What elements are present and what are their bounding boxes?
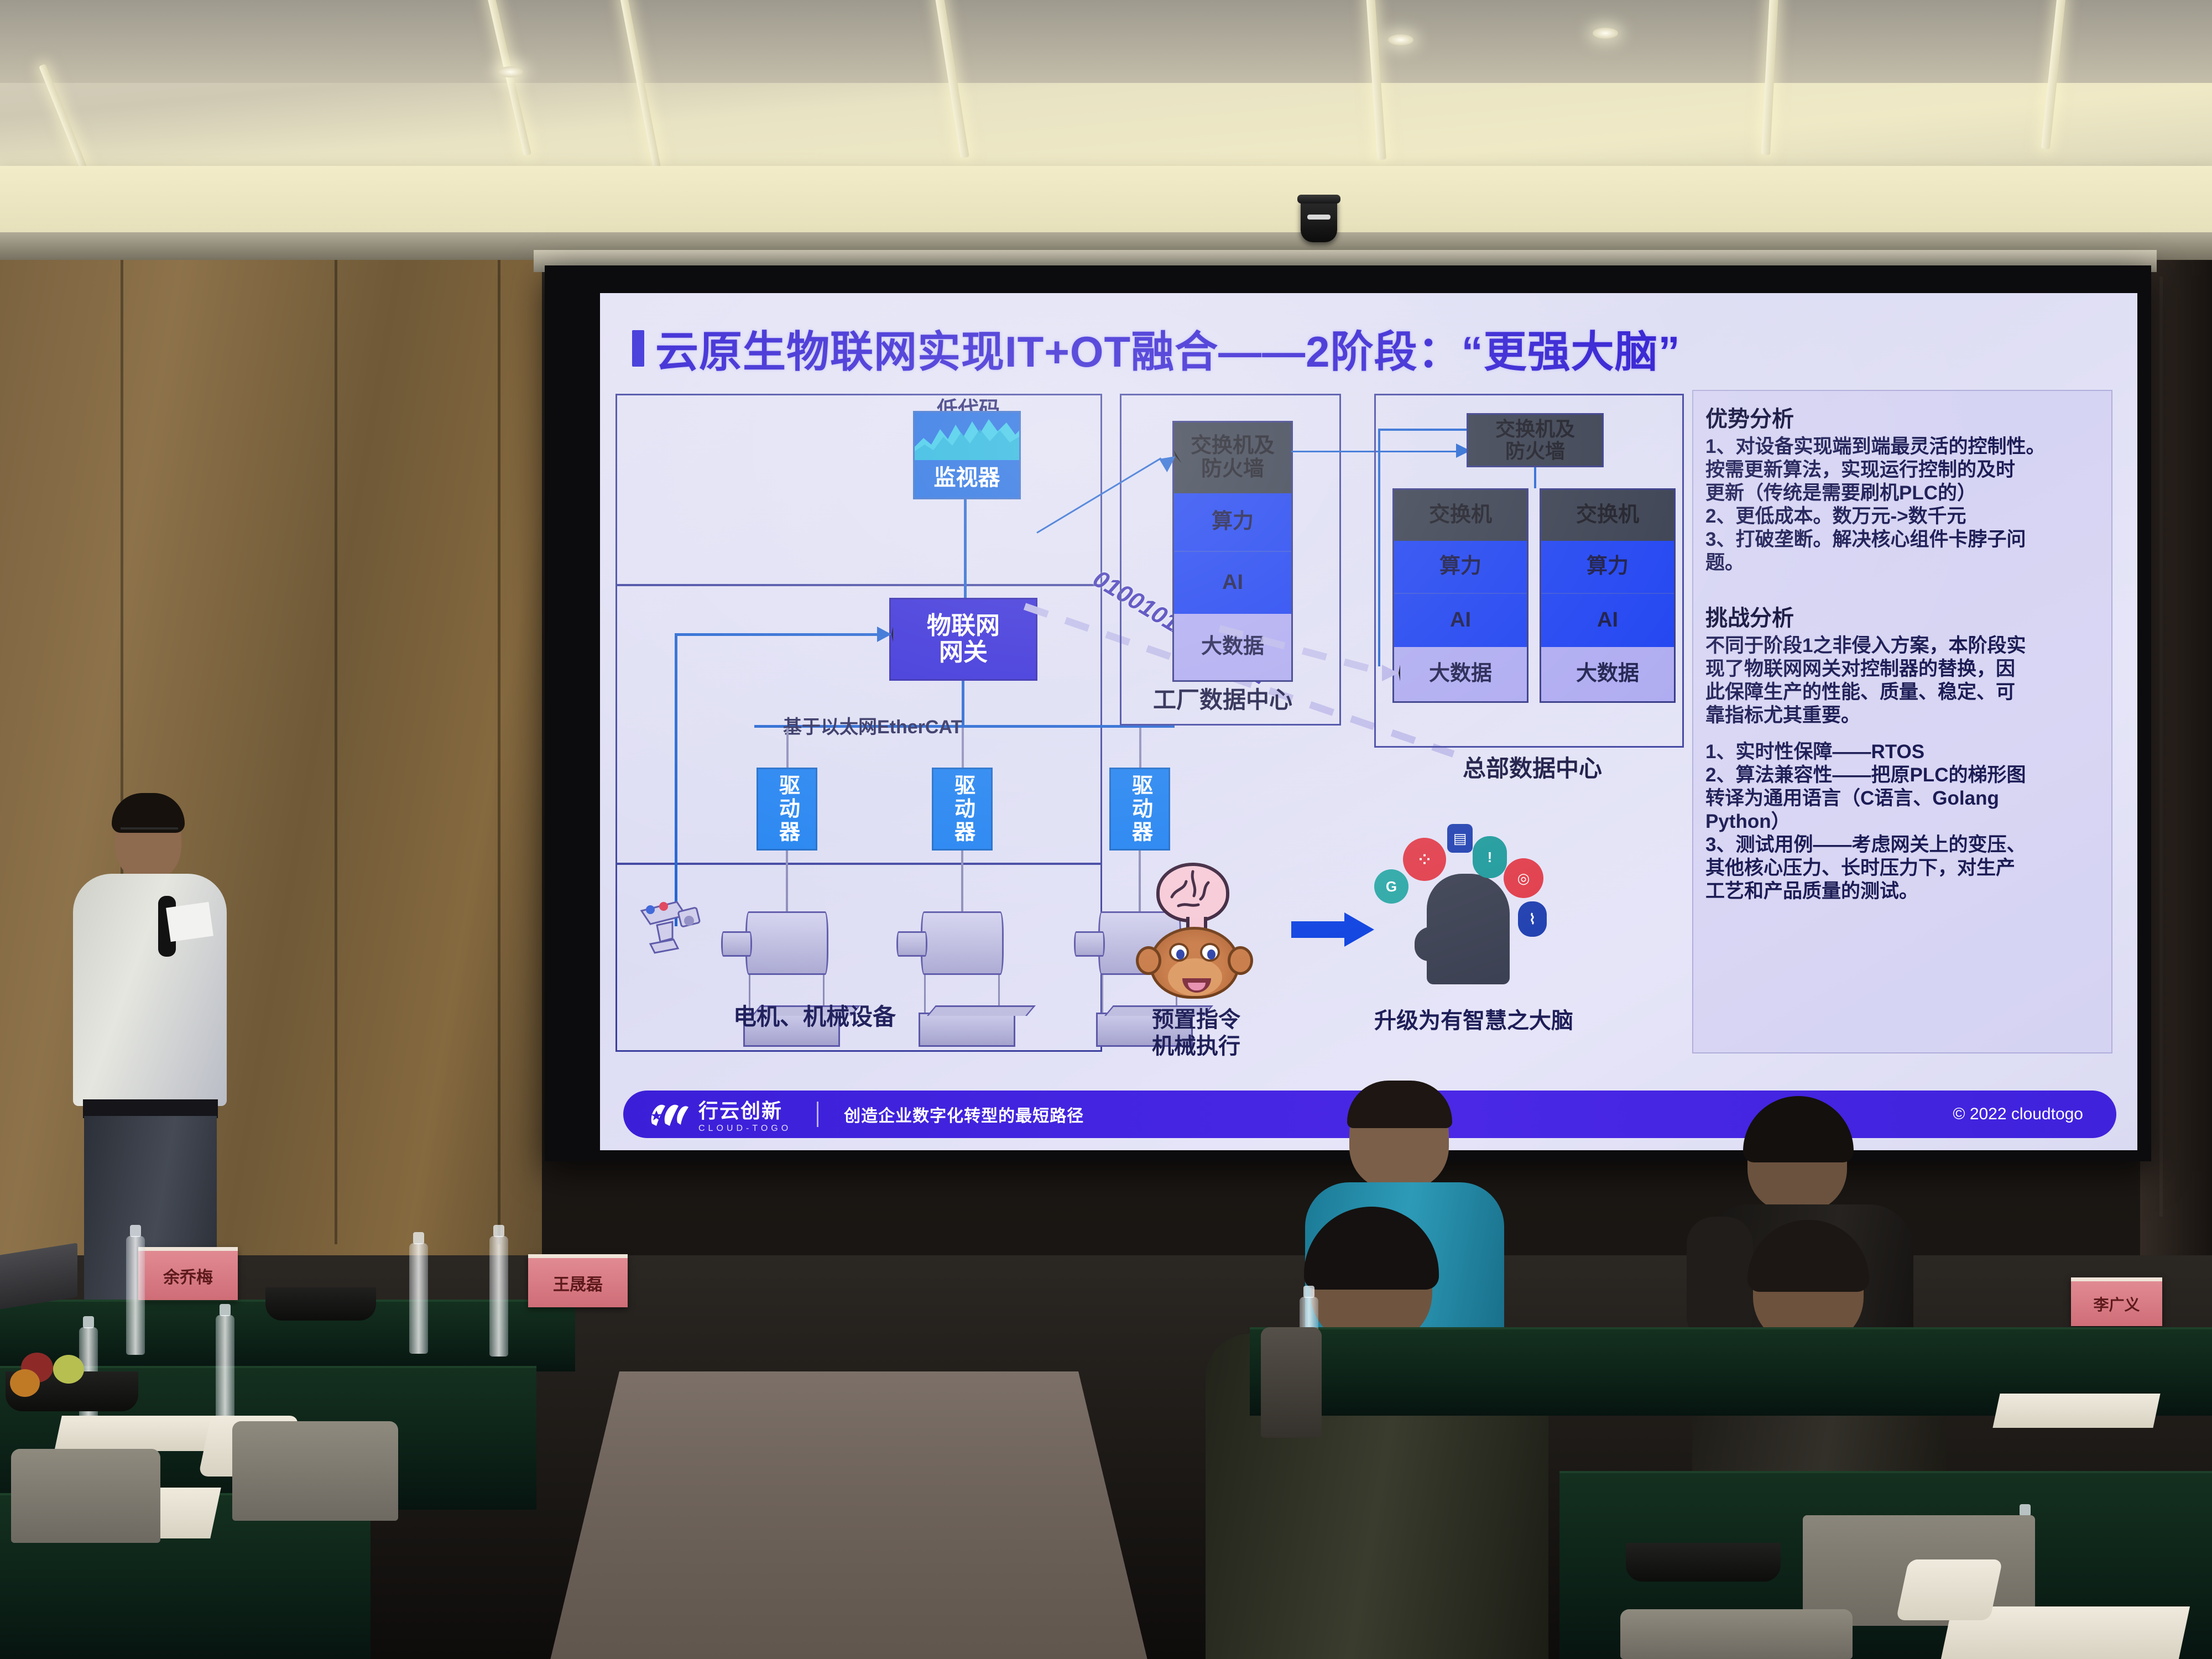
hq-ai-cell: AI bbox=[1541, 594, 1674, 647]
switch-label: 交换机 bbox=[1429, 504, 1492, 527]
monitor-label: 监视器 bbox=[934, 466, 1000, 490]
chair bbox=[1620, 1609, 1853, 1659]
driver-node: 驱动器 bbox=[757, 768, 817, 851]
edge-architecture-panel: 低代码 监视器 物联网 网关 bbox=[615, 394, 1102, 1052]
challenge-line: 不同于阶段1之非侵入方案，本阶段实 bbox=[1705, 634, 2100, 658]
motor-base-link bbox=[924, 975, 926, 1013]
challenge-item: Python） bbox=[1705, 810, 2100, 833]
downlight bbox=[1388, 34, 1413, 45]
driver-label: 驱动器 bbox=[1128, 774, 1151, 844]
paper-sheet bbox=[1992, 1394, 2160, 1428]
hq-firewall-line1: 交换机及 bbox=[1495, 418, 1575, 440]
arrow-head-bigdata bbox=[1382, 665, 1400, 681]
challenge-item: 3、测试用例——考虑网关上的变压、 bbox=[1705, 833, 2100, 857]
compute-label: 算力 bbox=[1587, 555, 1629, 578]
cctv-camera-icon bbox=[638, 899, 711, 964]
bus-drop bbox=[786, 728, 789, 768]
monitoring-layer bbox=[617, 395, 1100, 586]
motor-unit bbox=[921, 911, 1004, 975]
presenter-badge bbox=[166, 902, 213, 942]
name-card: 王晟磊 bbox=[528, 1254, 628, 1307]
hq-firewall-drop bbox=[1534, 467, 1536, 488]
footer-divider bbox=[817, 1102, 818, 1127]
bus-drop bbox=[1139, 728, 1141, 768]
hq-dc-column: 交换机 算力 AI 大数据 bbox=[1392, 488, 1528, 703]
idea-bubble-icon: ! bbox=[1473, 836, 1507, 878]
hq-left-rail-v bbox=[1378, 429, 1380, 666]
hq-data-center-caption: 总部数据中心 bbox=[1463, 750, 1602, 784]
factory-data-center-panel: 交换机及 防火墙 算力 AI 大数据 bbox=[1120, 394, 1341, 726]
challenge-item: 2、算法兼容性——把原PLC的梯形图 bbox=[1705, 764, 2100, 787]
paper-sheet bbox=[54, 1416, 222, 1451]
water-bottle bbox=[126, 1236, 145, 1355]
advantage-line: 按需更新算法，实现运行控制的及时 bbox=[1705, 458, 2100, 482]
driver-node: 驱动器 bbox=[1109, 768, 1170, 851]
hq-compute-cell: 算力 bbox=[1394, 541, 1527, 594]
hq-ai-cell: AI bbox=[1394, 594, 1527, 647]
hq-switch-cell: 交换机 bbox=[1541, 490, 1674, 541]
downlight bbox=[498, 66, 523, 77]
carpet-aisle bbox=[531, 1371, 1167, 1659]
motor-body bbox=[745, 911, 828, 975]
monitor-sparkline-icon bbox=[915, 413, 1019, 460]
factory-dc-bigdata-cell: 大数据 bbox=[1174, 614, 1291, 680]
brand-name-en: CLOUD-TOGO bbox=[698, 1124, 791, 1134]
hq-bigdata-cell: 大数据 bbox=[1541, 647, 1674, 701]
brand-text: 行云创新 CLOUD-TOGO bbox=[698, 1095, 791, 1134]
challenge-item: 其他核心压力、长时压力下，对生产 bbox=[1705, 857, 2100, 880]
monkey-ear bbox=[1228, 946, 1253, 975]
presentation-slide: 云原生物联网实现IT+OT融合——2阶段：“更强大脑” 低代码 监视器 bbox=[600, 293, 2137, 1150]
monkey-head-icon bbox=[1150, 927, 1239, 999]
driver-motor-link bbox=[786, 851, 788, 911]
idea-bubble-icon: G bbox=[1374, 869, 1408, 904]
gateway-label-line2: 网关 bbox=[927, 639, 1000, 666]
analysis-panel: 优势分析 1、对设备实现端到端最灵活的控制性。 按需更新算法，实现运行控制的及时… bbox=[1692, 390, 2112, 1053]
chair bbox=[11, 1449, 160, 1543]
motor-unit bbox=[745, 911, 828, 975]
arrow-head-gateway-in bbox=[877, 627, 893, 642]
brain-icon bbox=[1156, 863, 1229, 922]
ethercat-label: 基于以太网EtherCAT bbox=[783, 712, 962, 739]
driver-label: 驱动器 bbox=[775, 774, 798, 844]
motor-shaft bbox=[1074, 931, 1105, 957]
equipment-label: 电机、机械设备 bbox=[733, 998, 896, 1032]
advantage-line: 题。 bbox=[1705, 551, 2100, 575]
conference-room: 云原生物联网实现IT+OT融合——2阶段：“更强大脑” 低代码 监视器 bbox=[0, 0, 2212, 1659]
monkey-brain-illustration bbox=[1131, 863, 1258, 1001]
motor-shaft bbox=[896, 931, 927, 957]
spacer bbox=[1705, 575, 2100, 600]
monkey-eye bbox=[1200, 943, 1220, 962]
motor-shaft bbox=[721, 931, 752, 957]
hq-switch-cell: 交换机 bbox=[1394, 490, 1527, 541]
water-bottle bbox=[489, 1236, 508, 1357]
smart-brain-head-icon bbox=[1427, 874, 1510, 984]
footer-tagline: 创造企业数字化转型的最短路径 bbox=[844, 1102, 1084, 1126]
connector-monitor-gateway bbox=[964, 499, 967, 599]
factory-data-center-caption: 工厂数据中心 bbox=[1153, 681, 1292, 715]
idea-bubble-icon: ⌇ bbox=[1518, 901, 1547, 937]
challenge-line: 此保障生产的性能、质量、稳定、可 bbox=[1705, 681, 2100, 704]
monitor-node: 监视器 bbox=[913, 411, 1021, 499]
advantage-line: 3、打破垄断。解决核心组件卡脖子问 bbox=[1705, 528, 2100, 551]
firewall-label-line2: 防火墙 bbox=[1201, 458, 1264, 481]
fruit-pear bbox=[53, 1355, 84, 1384]
snack-tray bbox=[265, 1287, 376, 1321]
hq-dc-firewall: 交换机及 防火墙 bbox=[1467, 413, 1604, 467]
monkey-ear bbox=[1136, 946, 1161, 975]
ai-label: AI bbox=[1450, 609, 1471, 632]
challenge-line: 现了物联网网关对控制器的替换，因 bbox=[1705, 658, 2100, 681]
preset-caption-line2: 机械执行 bbox=[1108, 1033, 1285, 1060]
switch-label: 交换机 bbox=[1576, 504, 1639, 527]
hq-data-center-panel: 交换机及 防火墙 交换机 算力 AI 大数据 bbox=[1374, 394, 1684, 748]
ai-label: AI bbox=[1597, 609, 1618, 632]
driver-node: 驱动器 bbox=[932, 768, 993, 851]
hq-compute-cell: 算力 bbox=[1541, 541, 1674, 594]
wall-seam bbox=[335, 260, 337, 1244]
driver-label: 驱动器 bbox=[951, 774, 973, 844]
machine-base bbox=[919, 1013, 1015, 1047]
cloudtogo-logo-icon bbox=[646, 1098, 690, 1130]
wall-seam bbox=[498, 260, 500, 1244]
advantage-heading: 优势分析 bbox=[1705, 401, 2100, 433]
water-bottle bbox=[409, 1243, 428, 1354]
motor-base-link bbox=[1102, 975, 1103, 1013]
idea-bubble-icon: ▤ bbox=[1447, 824, 1473, 853]
connector-camera-gateway-h bbox=[675, 633, 879, 636]
hq-firewall-line2: 防火墙 bbox=[1505, 440, 1565, 462]
hq-dc-column: 交换机 算力 AI 大数据 bbox=[1540, 488, 1676, 703]
bigdata-label: 大数据 bbox=[1576, 662, 1639, 686]
compute-label: 算力 bbox=[1439, 555, 1481, 578]
connector-camera-gateway-v bbox=[675, 633, 677, 926]
ai-label: AI bbox=[1222, 571, 1243, 594]
advantage-line: 2、更低成本。数万元->数千元 bbox=[1705, 505, 2100, 528]
challenge-line: 靠指标尤其重要。 bbox=[1705, 704, 2100, 727]
challenge-item: 工艺和产品质量的测试。 bbox=[1705, 880, 2100, 903]
bus-drop bbox=[962, 728, 964, 768]
preset-caption-line1: 预置指令 bbox=[1108, 1006, 1285, 1033]
firewall-label-line1: 交换机及 bbox=[1191, 435, 1275, 458]
presenter-belt bbox=[83, 1099, 218, 1118]
monkey-eye bbox=[1169, 943, 1189, 962]
name-card: 余乔梅 bbox=[138, 1247, 238, 1300]
slide-title-row: 云原生物联网实现IT+OT融合——2阶段：“更强大脑” bbox=[632, 317, 1681, 379]
transform-arrow-icon bbox=[1291, 912, 1374, 947]
brand-name-cn: 行云创新 bbox=[698, 1095, 791, 1124]
presenter-glasses bbox=[121, 827, 178, 836]
idea-bubble-icon: ◎ bbox=[1504, 858, 1543, 898]
snack-tray bbox=[1626, 1543, 1781, 1582]
advantage-line: 更新（传统是需要刷机PLC的） bbox=[1705, 482, 2100, 505]
footer-copyright: © 2022 cloudtogo bbox=[1953, 1105, 2083, 1124]
compute-label: 算力 bbox=[1212, 510, 1254, 534]
spacer bbox=[1705, 727, 2100, 740]
bigdata-label: 大数据 bbox=[1429, 662, 1492, 686]
name-card: 李广义 bbox=[2071, 1277, 2162, 1326]
factory-dc-compute-cell: 算力 bbox=[1174, 493, 1291, 552]
gateway-label-line1: 物联网 bbox=[927, 613, 1000, 639]
challenge-heading: 挑战分析 bbox=[1705, 600, 2100, 632]
wall-panel-strip bbox=[2159, 276, 2163, 1217]
ptz-camera-icon bbox=[1301, 199, 1337, 242]
hq-firewall-cell: 交换机及 防火墙 bbox=[1468, 415, 1602, 466]
chair bbox=[1261, 1327, 1322, 1438]
factory-dc-firewall-cell: 交换机及 防火墙 bbox=[1174, 422, 1291, 493]
hq-bigdata-cell: 大数据 bbox=[1394, 647, 1527, 701]
presenter bbox=[50, 796, 249, 1311]
fruit-bowl bbox=[6, 1371, 138, 1411]
ceiling-upper bbox=[0, 0, 2212, 83]
audience-arm bbox=[1687, 1217, 1753, 1344]
fruit-orange bbox=[10, 1369, 40, 1397]
driver-motor-link bbox=[961, 851, 963, 911]
title-accent-bar bbox=[632, 330, 644, 367]
hq-left-rail-h bbox=[1378, 429, 1467, 431]
chair bbox=[232, 1421, 398, 1521]
advantage-line: 1、对设备实现端到端最灵活的控制性。 bbox=[1705, 435, 2100, 458]
page-title: 云原生物联网实现IT+OT融合——2阶段：“更强大脑” bbox=[655, 317, 1681, 379]
arrow-tip bbox=[1344, 912, 1374, 947]
iot-gateway-node: 物联网 网关 bbox=[889, 598, 1037, 681]
preset-instruction-caption: 预置指令 机械执行 bbox=[1108, 1006, 1285, 1060]
smart-brain-caption: 升级为有智慧之大脑 bbox=[1341, 1008, 1606, 1034]
challenge-item: 转译为通用语言（C语言、Golang bbox=[1705, 787, 2100, 810]
idea-bubble-icon: ⁘ bbox=[1403, 838, 1446, 881]
arrow-shaft bbox=[1291, 921, 1347, 938]
napkin bbox=[1896, 1559, 2002, 1620]
downlight bbox=[1593, 28, 1618, 39]
motor-body bbox=[921, 911, 1004, 975]
ceiling-cove bbox=[0, 166, 2212, 232]
challenge-item: 1、实时性保障——RTOS bbox=[1705, 740, 2100, 764]
factory-dc-ai-cell: AI bbox=[1174, 552, 1291, 614]
